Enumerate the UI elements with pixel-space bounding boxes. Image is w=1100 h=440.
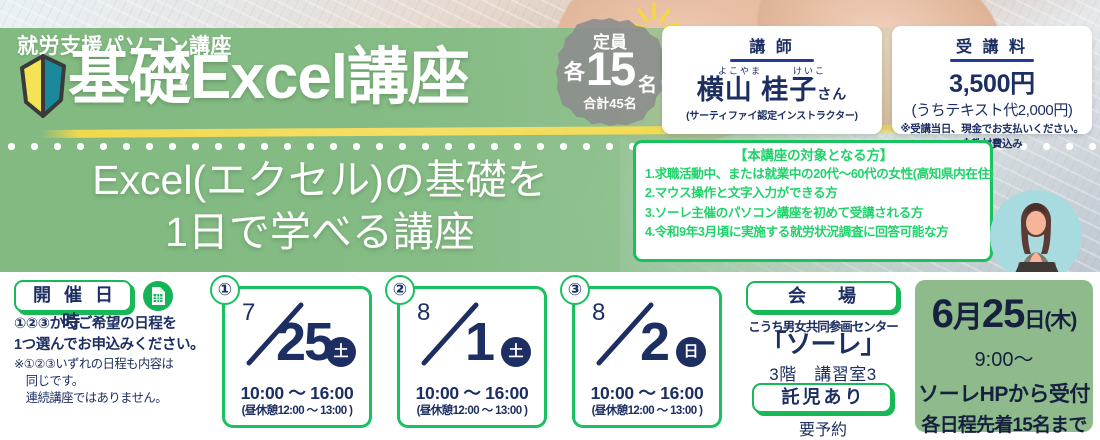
instructor-card-rule xyxy=(730,59,814,62)
apply-month-unit: 月 xyxy=(953,301,982,334)
application-limit: 各日程先着15名まで xyxy=(915,410,1093,437)
schedule-note-line5: 連続講座ではありません。 xyxy=(14,390,214,407)
fee-card-heading: 受 講 料 xyxy=(892,26,1092,57)
date-card[interactable]: ③ 8 2 日 10:00 〜 16:00 (昼休憩12:00 〜 13:00 … xyxy=(572,286,722,428)
schedule-note-line4: 同じです。 xyxy=(14,373,214,390)
date-card-number: ② xyxy=(385,275,415,305)
hero-subtitle-line2: 1日で学べる講座 xyxy=(0,207,640,259)
date-card-break: (昼休憩12:00 〜 13:00 ) xyxy=(225,402,369,418)
capacity-seal: 定員 各 15 名 合計45名 xyxy=(556,18,664,126)
date-card-day: 2 xyxy=(621,315,687,369)
venue-room: 3階 講習室3 xyxy=(742,360,904,385)
fee-note-payment: ※受講当日、現金でお支払いください。 xyxy=(892,121,1092,136)
instructor-card-heading: 講 師 xyxy=(662,26,882,57)
date-card[interactable]: ② 8 1 土 10:00 〜 16:00 (昼休憩12:00 〜 13:00 … xyxy=(397,286,547,428)
date-card[interactable]: ① 7 25 土 10:00 〜 16:00 (昼休憩12:00 〜 13:00… xyxy=(222,286,372,428)
venue-name: 「ソーレ」 xyxy=(742,330,904,359)
instructor-name: 横山 桂子 xyxy=(697,75,818,105)
instructor-card: 講 師 よこやま けいこ 横山 桂子さん (サーティファイ認定インストラクター) xyxy=(662,26,882,134)
childcare-note: 要予約 xyxy=(742,416,904,440)
instructor-name-row: 横山 桂子さん xyxy=(662,76,882,104)
application-open-date: 6月25日(木) xyxy=(915,294,1093,334)
eligibility-item: 3.ソーレ主催のパソコン講座を初めて受講される方 xyxy=(645,204,982,224)
eligibility-title: 【本講座の対象となる方】 xyxy=(645,148,982,165)
instructor-qualification: (サーティファイ認定インストラクター) xyxy=(662,107,882,122)
seal-total: 合計45名 xyxy=(556,93,664,112)
schedule-note-block: ①②③からご希望の日程を 1つ選んでお申込みください。 ※①②③いずれの日程も内… xyxy=(14,314,214,407)
page-title: 基礎Excel講座 xyxy=(68,47,469,109)
application-open-time: 9:00〜 xyxy=(915,343,1093,372)
childcare-pill: 託児あり xyxy=(752,383,892,413)
hero-section: 就労支援パソコン講座 基礎Excel講座 Excel(エクセル)の基礎を 1日で… xyxy=(0,0,1100,272)
apply-day-unit: 日 xyxy=(1024,309,1044,332)
woman-at-laptop-illustration-icon xyxy=(990,190,1082,272)
fee-card-rule xyxy=(950,59,1034,62)
application-method: ソーレHPから受付 xyxy=(915,378,1093,408)
date-card-number: ③ xyxy=(560,275,590,305)
hero-subtitle: Excel(エクセル)の基礎を 1日で学べる講座 xyxy=(0,155,640,258)
date-card-dayofweek: 土 xyxy=(326,337,356,367)
date-card-break: (昼休憩12:00 〜 13:00 ) xyxy=(575,402,719,418)
fee-breakdown: (うちテキスト代2,000円) xyxy=(892,99,1092,120)
sprout-leaf-logo-icon xyxy=(14,50,72,120)
instructor-honorific: さん xyxy=(817,86,847,102)
eligibility-item: 1.求職活動中、または就業中の20代〜60代の女性(高知県内在住) xyxy=(645,165,982,185)
date-card-dayofweek: 土 xyxy=(501,337,531,367)
flyer-root: 就労支援パソコン講座 基礎Excel講座 Excel(エクセル)の基礎を 1日で… xyxy=(0,0,1100,440)
fee-card: 受 講 料 3,500円 (うちテキスト代2,000円) ※受講当日、現金でお支… xyxy=(892,26,1092,134)
schedule-note-line2: 1つ選んでお申込みください。 xyxy=(14,335,214,356)
excel-document-icon xyxy=(143,281,173,311)
apply-day: 25 xyxy=(982,292,1025,336)
application-panel: 6月25日(木) 9:00〜 ソーレHPから受付 各日程先着15名まで xyxy=(915,280,1093,432)
apply-dayofweek: (木) xyxy=(1044,309,1076,332)
bottom-section: 開 催 日 時 ①②③からご希望の日程を 1つ選んでお申込みください。 ※①②③… xyxy=(0,272,1100,440)
date-card-break: (昼休憩12:00 〜 13:00 ) xyxy=(400,402,544,418)
schedule-note-line1: ①②③からご希望の日程を xyxy=(14,314,214,335)
venue-heading-pill: 会 場 xyxy=(746,281,898,312)
eligibility-item: 4.令和9年3月頃に実施する就労状況調査に回答可能な方 xyxy=(645,223,982,243)
schedule-heading-pill: 開 催 日 時 xyxy=(14,280,132,312)
date-card-day: 25 xyxy=(271,315,337,369)
eligibility-item: 2.マウス操作と文字入力ができる方 xyxy=(645,184,982,204)
apply-month: 6 xyxy=(932,292,953,336)
date-card-day: 1 xyxy=(446,315,512,369)
schedule-note-line3: ※①②③いずれの日程も内容は xyxy=(14,356,214,373)
fee-amount: 3,500円 xyxy=(892,64,1092,100)
hero-subtitle-line1: Excel(エクセル)の基礎を xyxy=(0,155,640,207)
eligibility-box: 【本講座の対象となる方】 1.求職活動中、または就業中の20代〜60代の女性(高… xyxy=(633,140,993,262)
date-card-dayofweek: 日 xyxy=(676,337,706,367)
date-card-number: ① xyxy=(210,275,240,305)
